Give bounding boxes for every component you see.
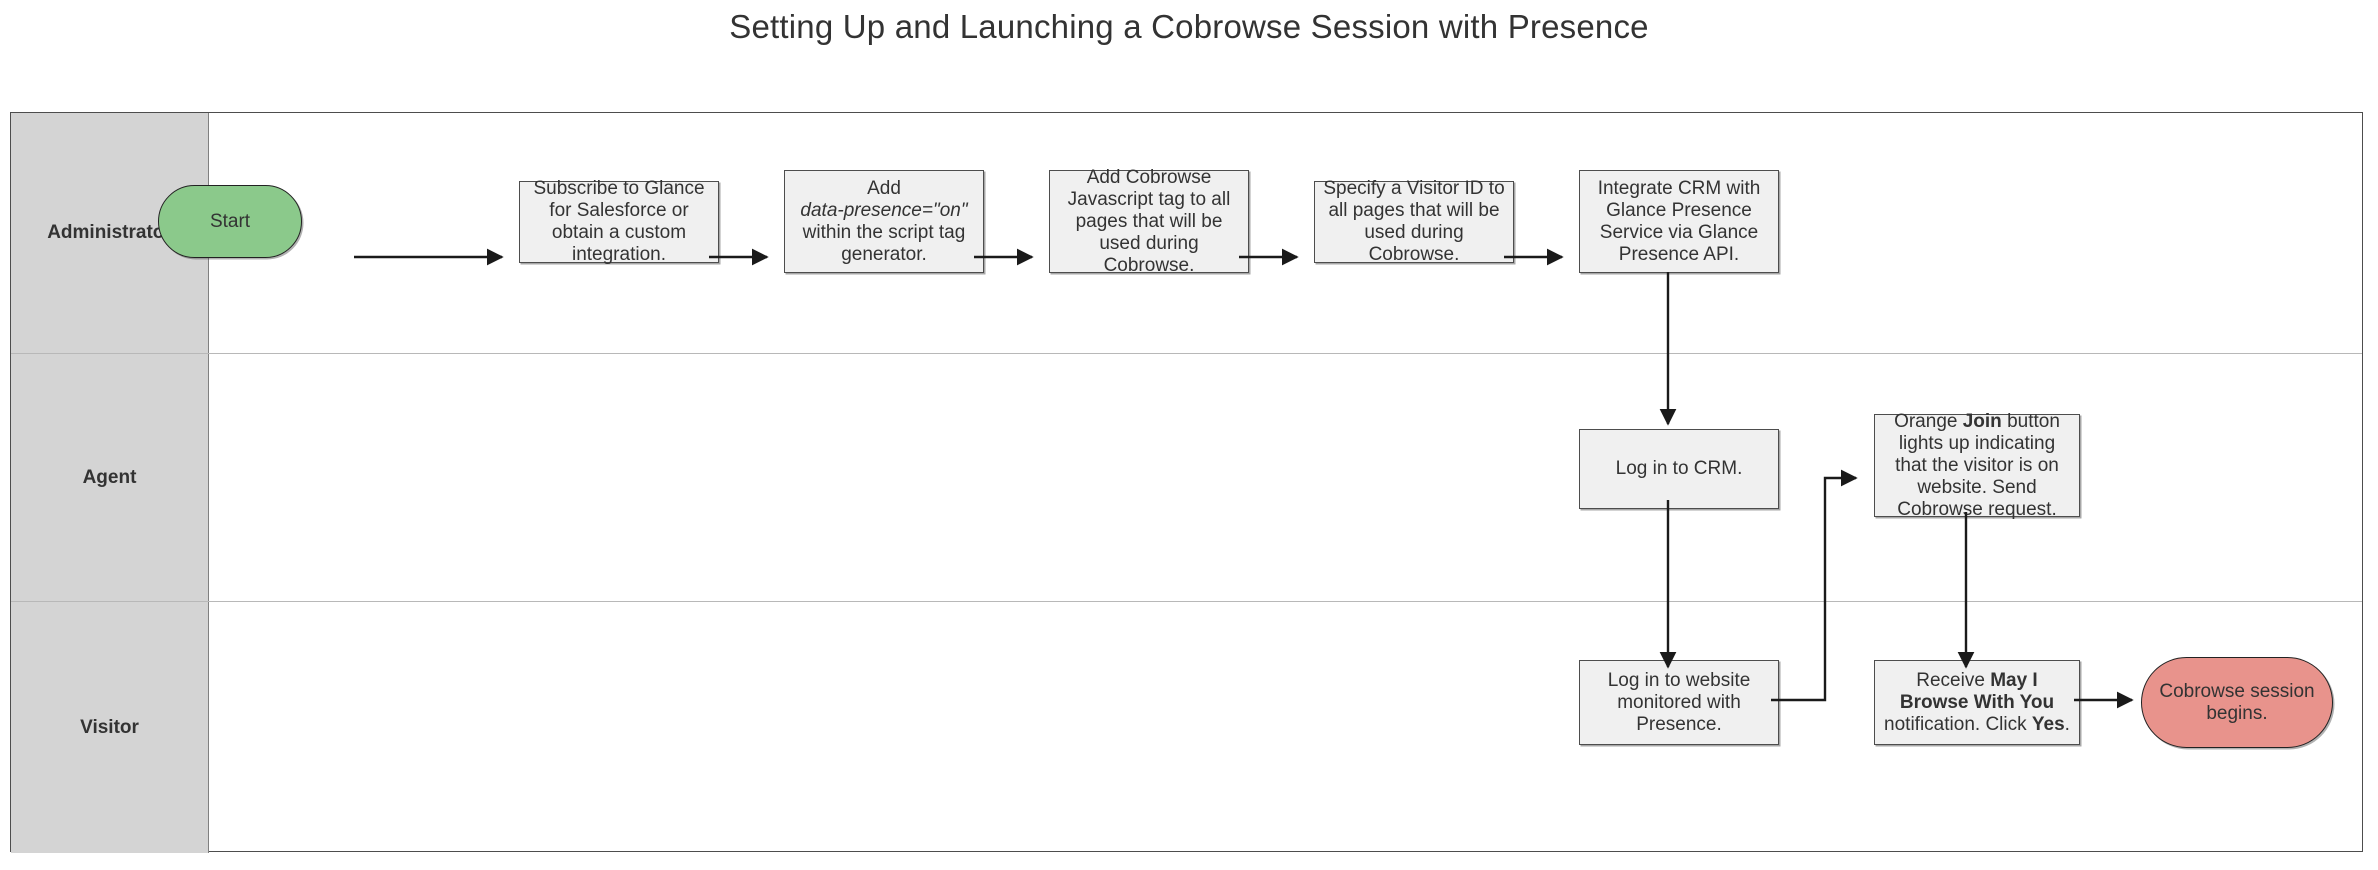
lane-label-visitor: Visitor [80, 717, 139, 739]
node-join-button-lights-up-label: Orange Join button lights up indicating … [1875, 409, 2079, 523]
lane-header-agent: Agent [11, 354, 209, 601]
node-receive-notification[interactable]: Receive May I Browse With You notificati… [1874, 660, 2080, 745]
page-title: Setting Up and Launching a Cobrowse Sess… [0, 8, 2378, 46]
swimlane-administrator: Administrator Start Subscribe to Glance … [11, 113, 2362, 353]
node-subscribe-label: Subscribe to Glance for Salesforce or ob… [520, 176, 718, 268]
node-integrate-crm-label: Integrate CRM with Glance Presence Servi… [1580, 176, 1778, 268]
swimlane-visitor: Visitor Log in to website monitored with… [11, 601, 2362, 853]
node-session-begins[interactable]: Cobrowse session begins. [2141, 657, 2333, 748]
node-specify-visitor-id[interactable]: Specify a Visitor ID to all pages that w… [1314, 181, 1514, 263]
node-login-website[interactable]: Log in to website monitored with Presenc… [1579, 660, 1779, 745]
node-join-button-lights-up[interactable]: Orange Join button lights up indicating … [1874, 414, 2080, 517]
node-login-crm[interactable]: Log in to CRM. [1579, 429, 1779, 509]
lane-header-visitor: Visitor [11, 602, 209, 853]
node-start[interactable]: Start [158, 185, 302, 258]
node-add-presence-attribute-label: Adddata-presence="on"within the script t… [785, 176, 983, 268]
swimlane-pool: Administrator Start Subscribe to Glance … [10, 112, 2363, 852]
lane-body-administrator: Start Subscribe to Glance for Salesforce… [209, 113, 2362, 353]
lane-body-visitor: Log in to website monitored with Presenc… [209, 602, 2362, 853]
node-subscribe[interactable]: Subscribe to Glance for Salesforce or ob… [519, 181, 719, 263]
lane-label-administrator: Administrator [47, 222, 172, 244]
node-session-begins-label: Cobrowse session begins. [2142, 679, 2332, 727]
node-specify-visitor-id-label: Specify a Visitor ID to all pages that w… [1315, 176, 1513, 268]
node-login-crm-label: Log in to CRM. [1610, 456, 1749, 482]
node-add-javascript-tag[interactable]: Add Cobrowse Javascript tag to all pages… [1049, 170, 1249, 273]
node-add-javascript-tag-label: Add Cobrowse Javascript tag to all pages… [1050, 165, 1248, 279]
lane-label-agent: Agent [83, 467, 137, 489]
node-receive-notification-label: Receive May I Browse With You notificati… [1875, 668, 2079, 738]
node-start-label: Start [204, 209, 256, 235]
node-add-presence-attribute[interactable]: Adddata-presence="on"within the script t… [784, 170, 984, 273]
node-integrate-crm[interactable]: Integrate CRM with Glance Presence Servi… [1579, 170, 1779, 273]
lane-body-agent: Log in to CRM. Orange Join button lights… [209, 354, 2362, 601]
node-login-website-label: Log in to website monitored with Presenc… [1580, 668, 1778, 738]
swimlane-agent: Agent Log in to CRM. Orange Join button … [11, 353, 2362, 601]
